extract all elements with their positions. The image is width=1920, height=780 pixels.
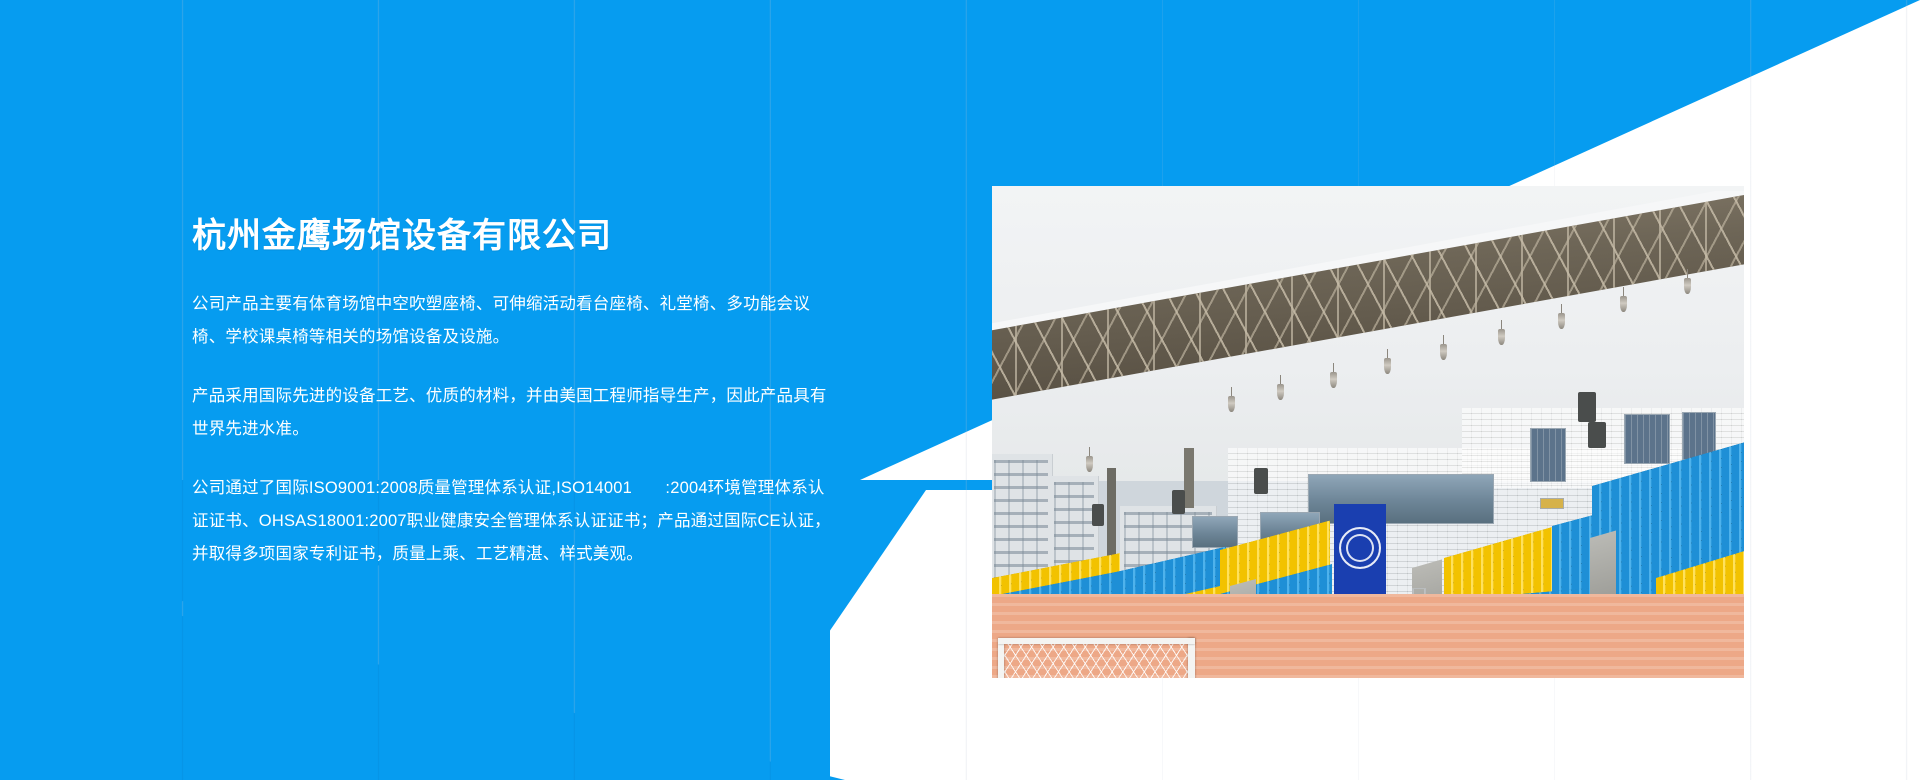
photo-speaker: [1172, 490, 1185, 514]
photo-lamp: [1558, 313, 1565, 329]
photo-goal-post: [998, 644, 1004, 678]
photo-support-column: [1184, 448, 1194, 508]
photo-lamp: [1384, 358, 1391, 374]
stadium-photo: [992, 186, 1744, 678]
photo-goal-crossbar: [998, 638, 1195, 644]
hero-paragraph-technology: 产品采用国际先进的设备工艺、优质的材料，并由美国工程师指导生产，因此产品具有世界…: [192, 380, 832, 446]
photo-goal-post: [1188, 638, 1195, 678]
photo-window: [1530, 428, 1566, 482]
photo-window: [1192, 516, 1238, 548]
photo-lamp: [1498, 329, 1505, 345]
photo-lamp: [1277, 384, 1284, 400]
hero-banner: 杭州金鹰场馆设备有限公司 公司产品主要有体育场馆中空吹塑座椅、可伸缩活动看台座椅…: [0, 0, 1920, 780]
hero-text-column: 杭州金鹰场馆设备有限公司 公司产品主要有体育场馆中空吹塑座椅、可伸缩活动看台座椅…: [192, 215, 832, 571]
photo-lamp: [1684, 278, 1691, 294]
photo-lamp: [1620, 296, 1627, 312]
photo-speaker: [1578, 392, 1596, 422]
stadium-photo-content: [992, 186, 1744, 678]
photo-speaker: [1092, 504, 1104, 526]
hero-paragraph-products: 公司产品主要有体育场馆中空吹塑座椅、可伸缩活动看台座椅、礼堂椅、多功能会议椅、学…: [192, 288, 832, 354]
photo-lamp: [1228, 396, 1235, 412]
page-title: 杭州金鹰场馆设备有限公司: [192, 215, 832, 258]
photo-lamp: [1440, 344, 1447, 360]
photo-banner-seal: [1339, 527, 1381, 569]
photo-goal: [998, 638, 1194, 678]
photo-speaker: [1588, 422, 1606, 448]
hero-paragraph-certifications: 公司通过了国际ISO9001:2008质量管理体系认证,ISO14001 :20…: [192, 472, 832, 571]
photo-lamp: [1330, 372, 1337, 388]
photo-vent: [1540, 498, 1564, 509]
photo-lamp: [1086, 456, 1093, 472]
photo-speaker: [1254, 468, 1268, 494]
photo-window: [1624, 414, 1670, 464]
photo-goal-net: [998, 638, 1194, 678]
